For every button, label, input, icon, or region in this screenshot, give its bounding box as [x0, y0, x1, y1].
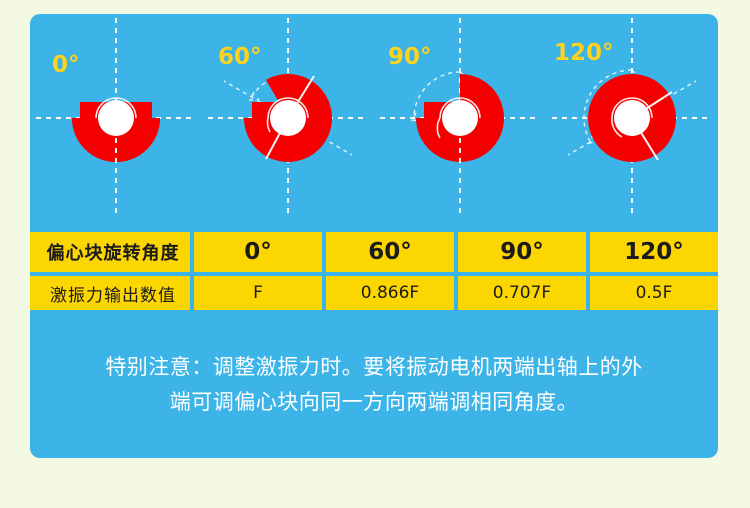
table-cell-force-90: 0.707F: [458, 276, 586, 310]
angle-label-0: 0°: [52, 52, 80, 78]
screenshot-root: 0°: [0, 0, 750, 508]
table-cell-angle-60: 60°: [326, 232, 454, 272]
table-cell-angle-0: 0°: [194, 232, 322, 272]
info-panel: 0°: [30, 14, 718, 458]
notice-caption-line-1: 特别注意：调整激振力时。要将振动电机两端出轴上的外: [48, 350, 700, 385]
table-cell-force-120: 0.5F: [590, 276, 718, 310]
excitation-force-table: 偏心块旋转角度 0° 60° 90° 120° 激振力输出数值 F 0.866F…: [30, 232, 718, 310]
eccentric-block-figure-0-icon: [30, 14, 202, 218]
notice-caption-line-2: 端可调偏心块向同一方向两端调相同角度。: [48, 385, 700, 420]
table-row-header-angle: 偏心块旋转角度: [30, 232, 190, 272]
table-cell-force-60: 0.866F: [326, 276, 454, 310]
eccentric-block-diagram-90: 90°: [374, 14, 546, 218]
table-cell-angle-120: 120°: [590, 232, 718, 272]
table-cell-force-0: F: [194, 276, 322, 310]
table-row-force: 激振力输出数值 F 0.866F 0.707F 0.5F: [30, 276, 718, 310]
eccentric-block-diagram-60: 60°: [202, 14, 374, 218]
angle-label-120: 120°: [554, 40, 614, 66]
table-row-angle: 偏心块旋转角度 0° 60° 90° 120°: [30, 232, 718, 272]
angle-label-90: 90°: [388, 44, 432, 70]
table-row-header-force: 激振力输出数值: [30, 276, 190, 310]
eccentric-block-diagram-band: 0°: [30, 14, 718, 218]
eccentric-block-diagram-0: 0°: [30, 14, 202, 218]
eccentric-block-diagram-120: 120°: [546, 14, 718, 218]
table-cell-angle-90: 90°: [458, 232, 586, 272]
angle-label-60: 60°: [218, 44, 262, 70]
notice-caption: 特别注意：调整激振力时。要将振动电机两端出轴上的外 端可调偏心块向同一方向两端调…: [48, 350, 700, 420]
